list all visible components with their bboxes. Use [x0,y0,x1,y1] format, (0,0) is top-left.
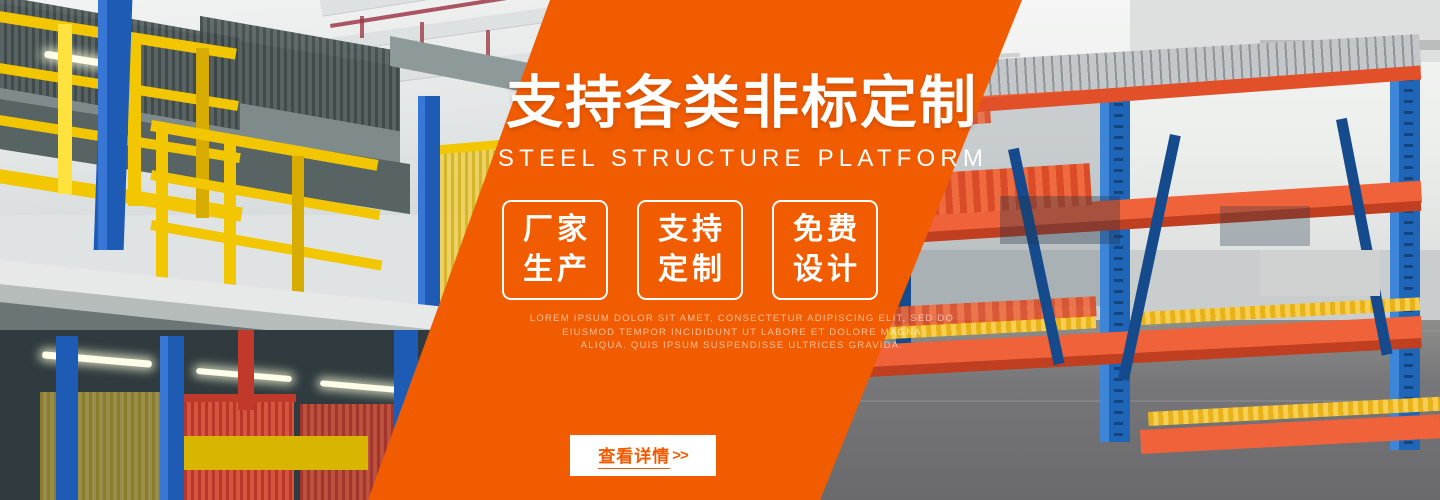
banner-subtitle: STEEL STRUCTURE PLATFORM [0,144,1440,174]
feature-badge-2-line2: 定制 [654,250,726,290]
feature-badge-1-line2: 生产 [519,250,591,290]
view-details-button[interactable]: 查看详情 >> [570,435,716,476]
banner-title: 支持各类非标定制 [0,72,1440,134]
banner-content: 支持各类非标定制 STEEL STRUCTURE PLATFORM 厂家 生产 … [0,0,1440,500]
promo-banner: 支持各类非标定制 STEEL STRUCTURE PLATFORM 厂家 生产 … [0,0,1440,500]
feature-badge-3: 免费 设计 [772,200,878,300]
lorem-line-2: EIUSMOD TEMPOR INCIDIDUNT UT LABORE ET D… [44,326,1440,340]
feature-badge-3-line1: 免费 [789,210,861,250]
feature-badges: 厂家 生产 支持 定制 免费 设计 [502,200,882,300]
lorem-paragraph: LOREM IPSUM DOLOR SIT AMET, CONSECTETUR … [0,312,1440,353]
view-details-label: 查看详情 [598,442,670,469]
feature-badge-1: 厂家 生产 [502,200,608,300]
feature-badge-2-line1: 支持 [654,210,726,250]
lorem-line-1: LOREM IPSUM DOLOR SIT AMET, CONSECTETUR … [44,312,1440,326]
feature-badge-3-line2: 设计 [789,250,861,290]
double-chevron-right-icon: >> [672,447,688,464]
lorem-line-3: ALIQUA. QUIS IPSUM SUSPENDISSE ULTRICES … [44,339,1440,353]
feature-badge-2: 支持 定制 [637,200,743,300]
feature-badge-1-line1: 厂家 [519,210,591,250]
